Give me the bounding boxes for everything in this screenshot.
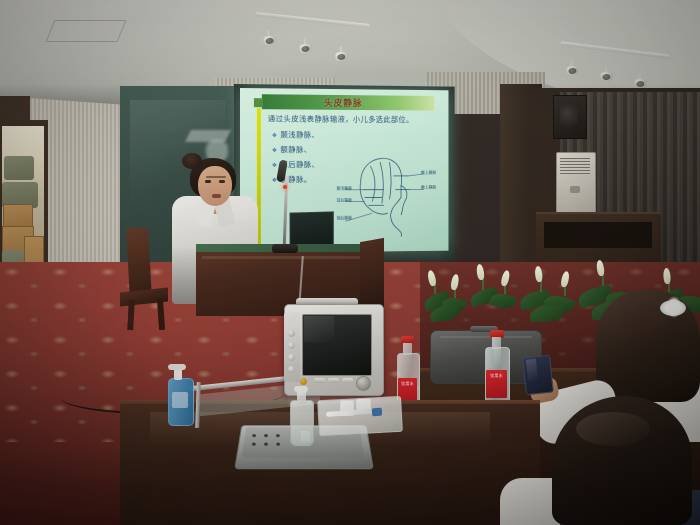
slide-title: 头皮静脉 — [324, 96, 430, 110]
presenter-mouth — [212, 194, 221, 198]
spotlight-icon — [599, 66, 612, 80]
presenter-brow — [206, 176, 226, 178]
diagram-label: 颞浅静脉 — [336, 186, 352, 192]
monitor-side-button[interactable] — [288, 330, 295, 337]
monitor-display-glare — [304, 316, 334, 342]
monitor-button[interactable] — [314, 378, 325, 383]
slide-lead-text: 通过头皮浅表静脉输液，小儿多选此部位。 — [268, 113, 442, 125]
presenter-eye — [219, 180, 225, 183]
monitor-button[interactable] — [342, 378, 353, 383]
podium-highlight — [202, 256, 368, 259]
monitor-button[interactable] — [328, 378, 339, 383]
track-light-rail-left — [255, 18, 370, 22]
air-conditioner-grill — [560, 158, 590, 174]
bottle-label-text: 饮用水 — [398, 381, 417, 387]
microphone-led-icon — [283, 185, 287, 189]
storage-sack — [4, 156, 34, 180]
spotlight-icon — [262, 29, 276, 44]
diagram-label: 额上静脉 — [421, 185, 436, 191]
diagram-label: 额上静脉 — [421, 170, 436, 176]
flask-cap[interactable] — [294, 386, 308, 392]
microphone-base — [272, 244, 298, 253]
ceiling-vent — [46, 20, 127, 42]
presenter-hair-bun — [182, 153, 202, 169]
glass-reflection — [185, 130, 231, 142]
water-bottle-right[interactable]: 饮用水 — [484, 330, 510, 410]
photo-scene: 头皮静脉 通过头皮浅表静脉输液，小儿多选此部位。 颞浅静脉、 额静脉、 耳后静脉… — [0, 0, 700, 525]
audience-front-hair-highlight — [576, 412, 650, 446]
head-vein-diagram — [334, 146, 435, 243]
air-conditioner-badge — [570, 186, 580, 193]
bottle-label-text: 饮用水 — [486, 373, 507, 379]
chair-backrest — [126, 227, 152, 298]
projection-screen: 头皮静脉 通过头皮浅表静脉输液，小儿多选此部位。 颞浅静脉、 额静脉、 耳后静脉… — [240, 88, 448, 253]
hair-bow — [666, 296, 682, 318]
smartphone-screen-glare — [526, 359, 538, 382]
spotlight-icon — [298, 37, 311, 51]
cardboard-box — [3, 204, 33, 228]
flask-neck — [297, 390, 306, 404]
monitor-side-button[interactable] — [288, 366, 295, 373]
monitor-rotary-knob[interactable] — [356, 376, 371, 391]
presenter-face — [198, 166, 232, 206]
cabinet-shelf — [544, 222, 652, 248]
tray-vial-rack — [248, 432, 283, 447]
power-button[interactable] — [300, 378, 307, 385]
speaker-cone-icon — [560, 104, 578, 130]
slide-corner-badge — [254, 98, 263, 107]
track-light-rail-right — [560, 48, 670, 52]
syringe-plunger[interactable] — [372, 408, 383, 417]
podium-side-panel — [360, 238, 384, 314]
diagram-label: 耳后静脉 — [336, 198, 352, 204]
diagram-label: 颈后静脉 — [336, 215, 352, 221]
spotlight-icon — [335, 46, 348, 60]
sanitizer-nozzle — [168, 364, 186, 370]
monitor-side-button[interactable] — [288, 342, 295, 349]
glass-flask[interactable] — [290, 400, 314, 446]
slide-bullet: 颞浅静脉、 — [272, 129, 442, 141]
sanitizer-label — [172, 392, 188, 408]
presenter-eye — [205, 180, 211, 183]
bottle-label: 饮用水 — [486, 370, 507, 398]
spotlight-icon — [565, 59, 578, 73]
monitor-side-button[interactable] — [288, 354, 295, 361]
